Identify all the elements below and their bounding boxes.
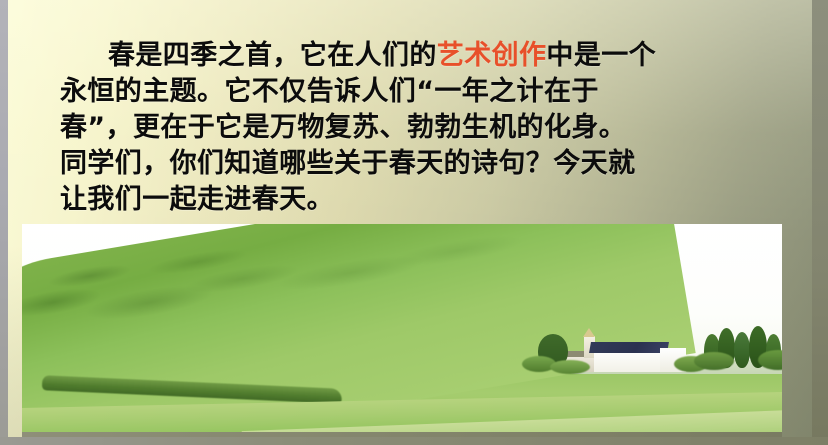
text-run-highlighted: 艺术创作 <box>437 40 547 71</box>
landscape-picture <box>22 224 782 437</box>
silo-roof <box>583 328 595 337</box>
text-run-plain-2: 中是一个 <box>546 40 656 71</box>
text-run-plain: 春是四季之首，它在人们的 <box>108 40 437 71</box>
barn-wall <box>594 350 664 372</box>
shrub-treeline-a <box>694 352 734 370</box>
text-line-1: 春是四季之首，它在人们的艺术创作中是一个 <box>60 38 780 74</box>
text-line-5: 让我们一起走进春天。 <box>60 182 780 218</box>
text-line-3: 春”，更在于它是万物复苏、勃勃生机的化身。 <box>60 110 780 146</box>
conifer-3 <box>734 332 750 368</box>
presentation-slide: 春是四季之首，它在人们的艺术创作中是一个 永恒的主题。它不仅告诉人们“一年之计在… <box>0 0 828 445</box>
text-line-4: 同学们，你们知道哪些关于春天的诗句？今天就 <box>60 146 780 182</box>
picture-bottom-trim <box>22 432 782 437</box>
text-line-2: 永恒的主题。它不仅告诉人们“一年之计在于 <box>60 74 780 110</box>
barn-roof <box>589 342 669 353</box>
body-text-block: 春是四季之首，它在人们的艺术创作中是一个 永恒的主题。它不仅告诉人们“一年之计在… <box>60 38 780 218</box>
shrub-under-farm <box>550 360 590 374</box>
